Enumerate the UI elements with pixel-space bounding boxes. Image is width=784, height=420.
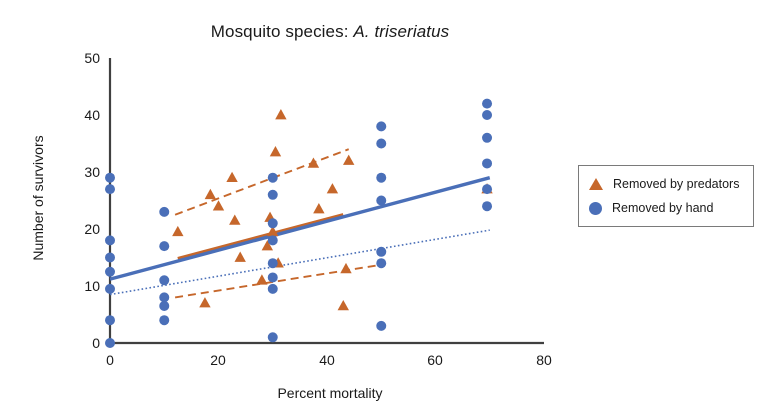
data-points-layer (105, 99, 493, 348)
data-point-triangle (205, 189, 216, 199)
data-point-circle (376, 258, 386, 268)
data-point-circle (376, 173, 386, 183)
data-point-triangle (327, 183, 338, 193)
data-point-circle (376, 247, 386, 257)
data-point-triangle (256, 274, 267, 284)
data-point-triangle (313, 203, 324, 213)
data-point-circle (482, 201, 492, 211)
chart-legend: Removed by predators Removed by hand (578, 165, 754, 227)
data-point-circle (376, 139, 386, 149)
trend-line (175, 149, 349, 215)
data-point-triangle (343, 155, 354, 165)
data-point-circle (105, 267, 115, 277)
data-point-circle (482, 99, 492, 109)
data-point-triangle (199, 297, 210, 307)
data-point-circle (159, 292, 169, 302)
data-point-triangle (229, 214, 240, 224)
data-point-triangle (226, 172, 237, 182)
data-point-circle (105, 338, 115, 348)
data-point-circle (482, 158, 492, 168)
data-point-circle (482, 133, 492, 143)
trend-line (178, 215, 343, 259)
data-point-circle (268, 218, 278, 228)
data-point-circle (268, 284, 278, 294)
data-point-triangle (340, 263, 351, 273)
data-point-circle (376, 321, 386, 331)
data-point-circle (268, 190, 278, 200)
data-point-circle (376, 196, 386, 206)
data-point-circle (159, 275, 169, 285)
data-point-circle (159, 241, 169, 251)
data-point-triangle (275, 109, 286, 119)
chart-figure: Mosquito species: A. triseriatus Number … (0, 0, 784, 420)
data-point-circle (482, 184, 492, 194)
data-point-circle (105, 284, 115, 294)
data-point-circle (159, 301, 169, 311)
trend-lines-layer (110, 149, 490, 297)
circle-marker-icon (589, 202, 602, 215)
data-point-triangle (213, 200, 224, 210)
data-point-circle (376, 121, 386, 131)
data-point-triangle (308, 157, 319, 167)
trend-line (175, 264, 384, 297)
legend-label-predators: Removed by predators (613, 177, 739, 191)
data-point-circle (159, 207, 169, 217)
data-point-circle (268, 235, 278, 245)
data-point-circle (105, 315, 115, 325)
triangle-marker-icon (589, 178, 603, 190)
trend-line (110, 178, 490, 279)
legend-item-predators: Removed by predators (589, 174, 739, 194)
data-point-circle (105, 235, 115, 245)
data-point-circle (268, 173, 278, 183)
legend-item-hand: Removed by hand (589, 198, 713, 218)
axis-lines (110, 58, 544, 343)
data-point-circle (105, 184, 115, 194)
legend-label-hand: Removed by hand (612, 201, 713, 215)
data-point-triangle (172, 226, 183, 236)
data-point-circle (105, 173, 115, 183)
data-point-circle (268, 272, 278, 282)
data-point-triangle (270, 146, 281, 156)
data-point-circle (268, 258, 278, 268)
data-point-circle (105, 253, 115, 263)
data-point-triangle (338, 300, 349, 310)
data-point-circle (482, 110, 492, 120)
data-point-circle (159, 315, 169, 325)
data-point-triangle (235, 252, 246, 262)
data-point-circle (268, 332, 278, 342)
